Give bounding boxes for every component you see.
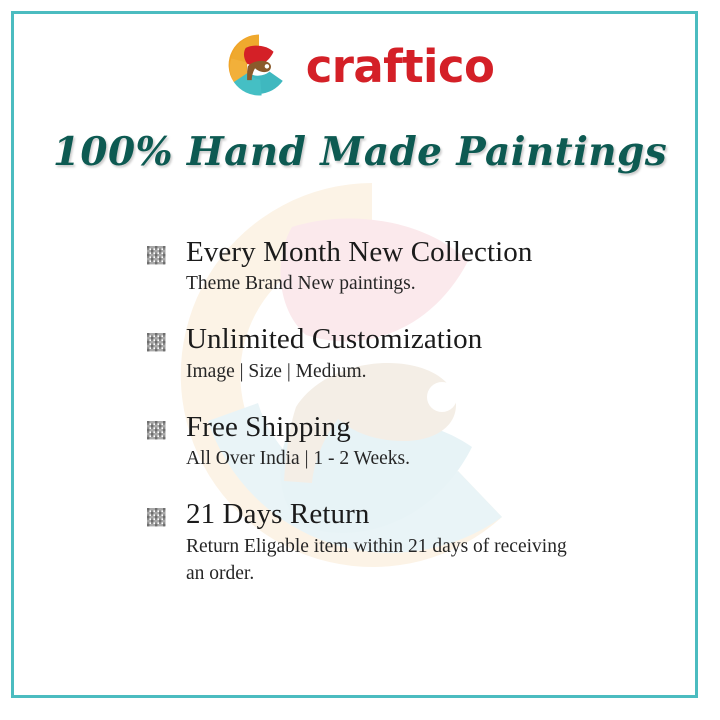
list-item: 21 Days Return Return Eligable item with…	[146, 498, 616, 587]
feature-title: 21 Days Return	[186, 498, 616, 530]
list-item: Every Month New Collection Theme Brand N…	[146, 236, 616, 298]
page-title: 100% Hand Made Paintings	[0, 131, 720, 174]
brand-wordmark: craftico	[306, 44, 495, 89]
list-item: Free Shipping All Over India | 1 - 2 Wee…	[146, 411, 616, 473]
brand-lockup: craftico	[0, 32, 720, 98]
feature-list: Every Month New Collection Theme Brand N…	[146, 236, 616, 587]
woven-square-bullet-icon	[146, 332, 166, 352]
feature-subtitle: Return Eligable item within 21 days of r…	[186, 534, 586, 588]
woven-square-bullet-icon	[146, 507, 166, 527]
woven-square-bullet-icon	[146, 245, 166, 265]
promo-banner: craftico 100% Hand Made Paintings	[0, 0, 720, 720]
feature-title: Unlimited Customization	[186, 323, 616, 355]
feature-title: Every Month New Collection	[186, 236, 616, 268]
craftico-c-paintbrush-logo-icon	[226, 32, 292, 98]
woven-square-bullet-icon	[146, 420, 166, 440]
feature-subtitle: Image | Size | Medium.	[186, 359, 586, 386]
feature-subtitle: Theme Brand New paintings.	[186, 271, 586, 298]
feature-title: Free Shipping	[186, 411, 616, 443]
feature-subtitle: All Over India | 1 - 2 Weeks.	[186, 446, 586, 473]
list-item: Unlimited Customization Image | Size | M…	[146, 323, 616, 385]
